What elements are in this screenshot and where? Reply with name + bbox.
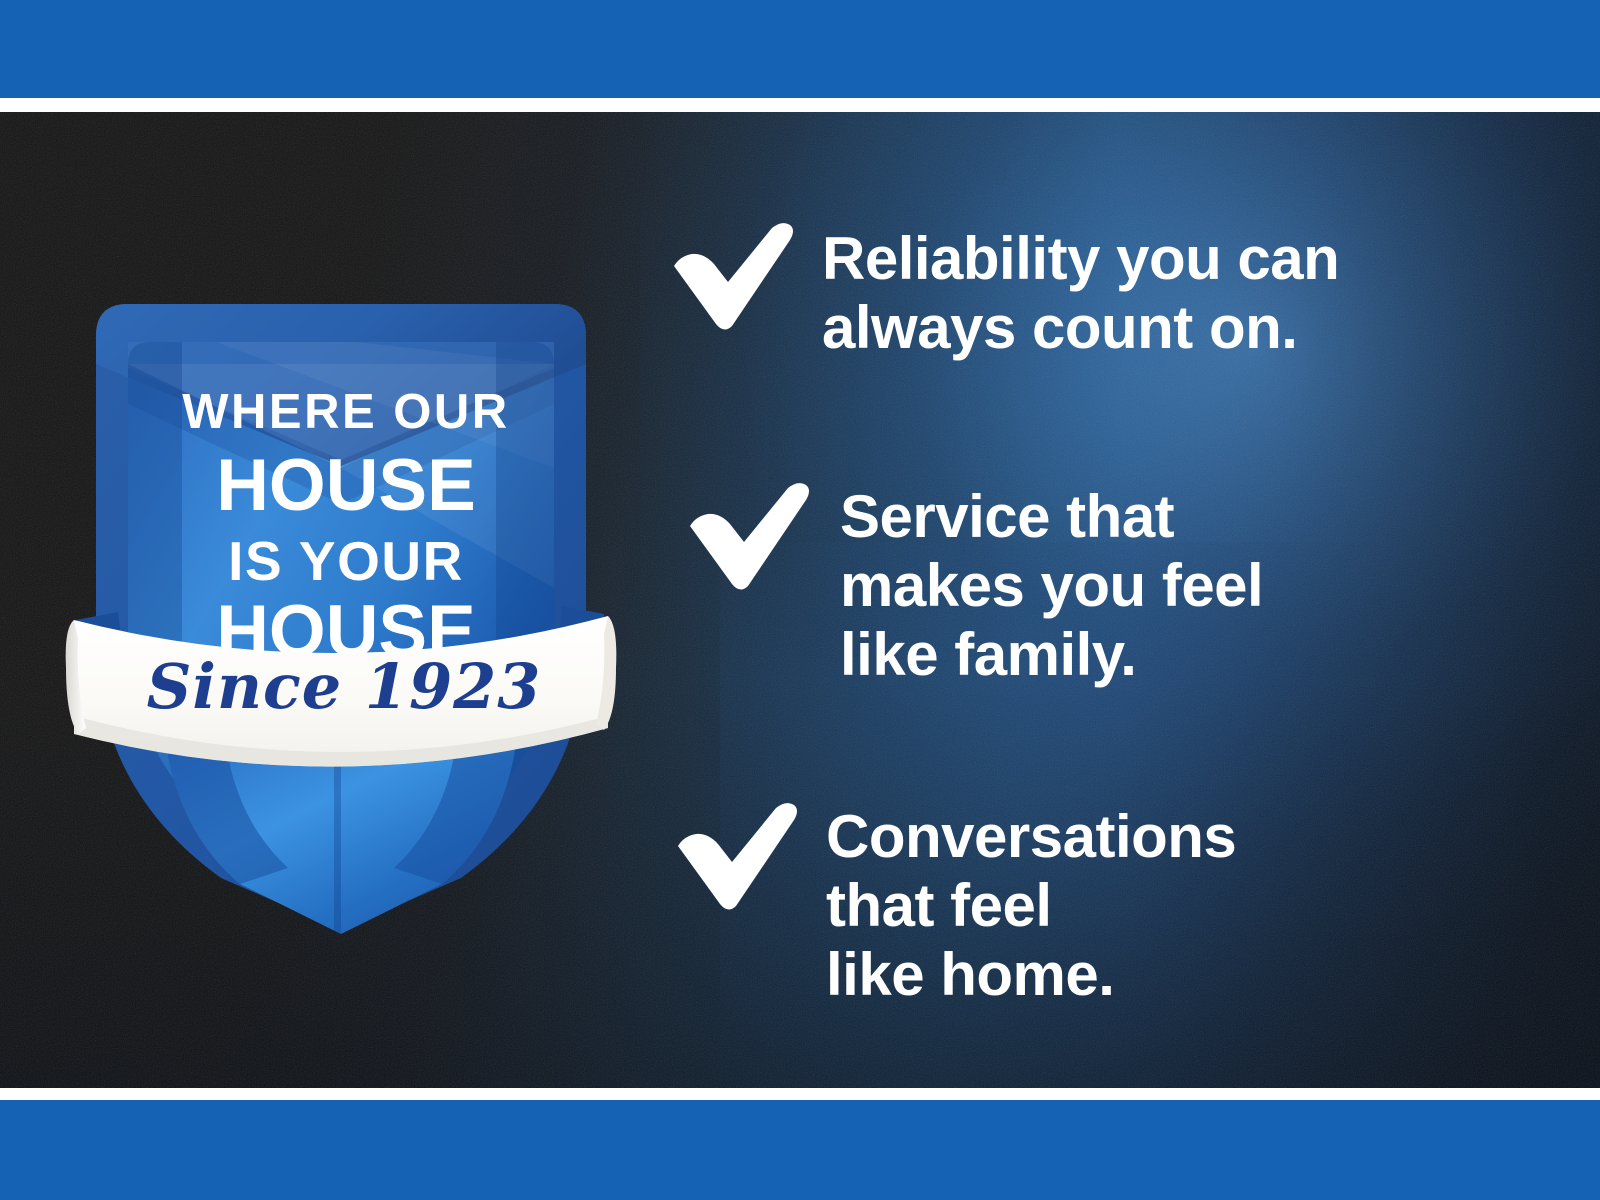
badge-line-house-1: HOUSE [216,445,476,526]
benefit-item: Service that makes you feel like family. [684,482,1263,689]
benefit-item: Conversations that feel like home. [672,802,1236,1009]
promo-banner: WHERE OUR HOUSE IS YOUR HOUSE Since 1923 [0,0,1600,1200]
benefit-text: Reliability you can always count on. [796,222,1339,362]
benefit-list: Reliability you can always count on. Ser… [660,112,1540,1088]
badge-line-is-your: IS YOUR [228,530,464,592]
benefit-text: Service that makes you feel like family. [812,482,1263,689]
checkmark-icon [672,802,800,914]
badge-ribbon-since: Since 1923 [147,650,542,723]
checkmark-icon [684,482,812,594]
benefit-text: Conversations that feel like home. [800,802,1236,1009]
benefit-item: Reliability you can always count on. [668,222,1339,362]
bottom-brand-bar [0,1100,1600,1200]
company-badge: WHERE OUR HOUSE IS YOUR HOUSE Since 1923 [56,168,626,968]
top-brand-bar [0,0,1600,98]
badge-line-where-our: WHERE OUR [182,385,509,439]
checkmark-icon [668,222,796,334]
